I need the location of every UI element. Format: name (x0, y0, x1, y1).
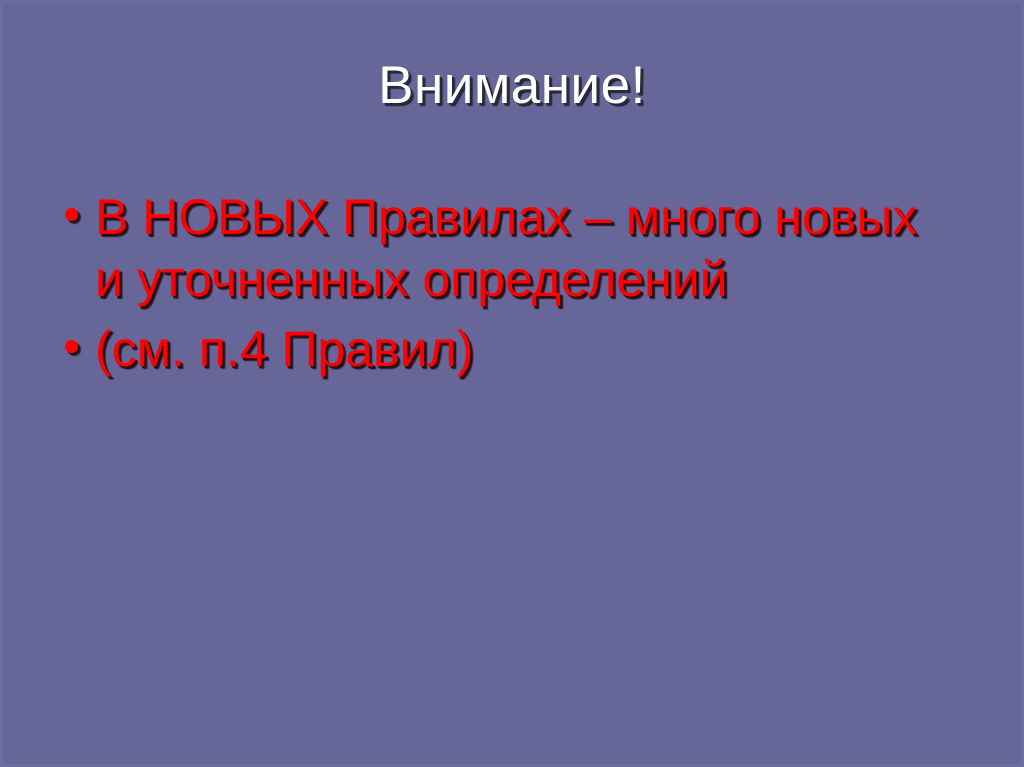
bullet-list-item: В НОВЫХ Правилах – много новых и уточнен… (52, 186, 972, 310)
bullet-dot-icon (65, 340, 78, 353)
slide-body-block: В НОВЫХ Правилах – много новых и уточнен… (52, 186, 972, 388)
bullet-item-text: В НОВЫХ Правилах – много новых и уточнен… (95, 186, 955, 310)
slide-title: Внимание! (378, 58, 646, 114)
bullet-marker (52, 186, 95, 221)
bullet-marker (52, 318, 95, 353)
slide-empty-area (0, 400, 1024, 767)
bullet-item-text: (см. п.4 Правил) (95, 318, 972, 380)
presentation-slide: Внимание! В НОВЫХ Правилах – много новых… (0, 0, 1024, 767)
bullet-list-item: (см. п.4 Правил) (52, 318, 972, 380)
slide-title-block: Внимание! (0, 58, 1024, 114)
bullet-dot-icon (65, 208, 78, 221)
